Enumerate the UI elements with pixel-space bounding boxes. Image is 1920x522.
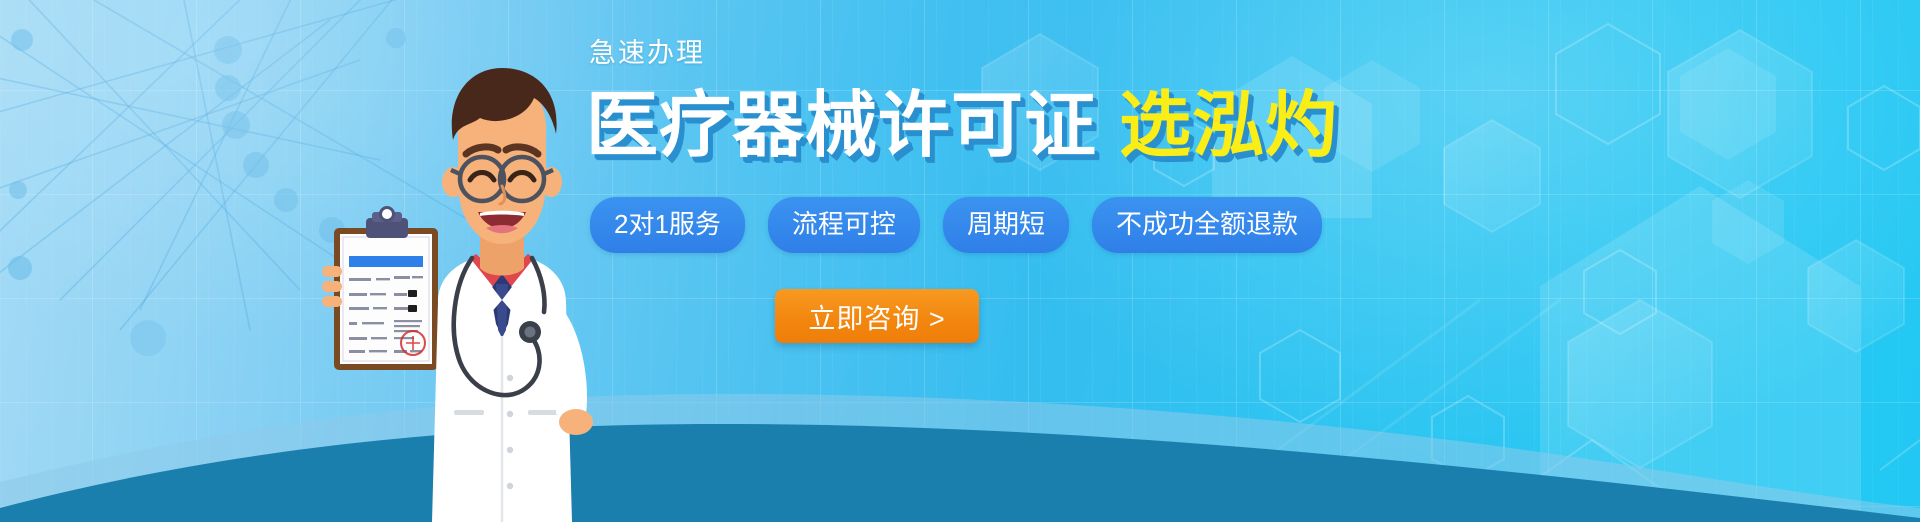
consult-now-button[interactable]: 立即咨询 >: [775, 289, 979, 343]
promo-banner: 急速办理 医疗器械许可证 选泓灼 2对1服务 流程可控 周期短 不成功全额退款 …: [0, 0, 1920, 522]
headline-primary: 医疗器械许可证: [586, 89, 1097, 161]
clipboard-icon: [322, 208, 438, 371]
page-title: 医疗器械许可证 选泓灼: [586, 89, 1346, 161]
eyebrow-text: 急速办理: [589, 40, 1346, 67]
feature-pill[interactable]: 2对1服务: [590, 197, 745, 253]
feature-pill[interactable]: 流程可控: [768, 197, 920, 253]
feature-pill[interactable]: 不成功全额退款: [1092, 197, 1322, 253]
doctor-head: [442, 68, 562, 244]
feature-pill-list: 2对1服务 流程可控 周期短 不成功全额退款: [590, 197, 1346, 253]
headline-accent: 选泓灼: [1119, 89, 1338, 161]
bottom-wave: [0, 332, 1920, 522]
feature-pill[interactable]: 周期短: [943, 197, 1069, 253]
copy-block: 急速办理 医疗器械许可证 选泓灼 2对1服务 流程可控 周期短 不成功全额退款: [586, 40, 1346, 253]
